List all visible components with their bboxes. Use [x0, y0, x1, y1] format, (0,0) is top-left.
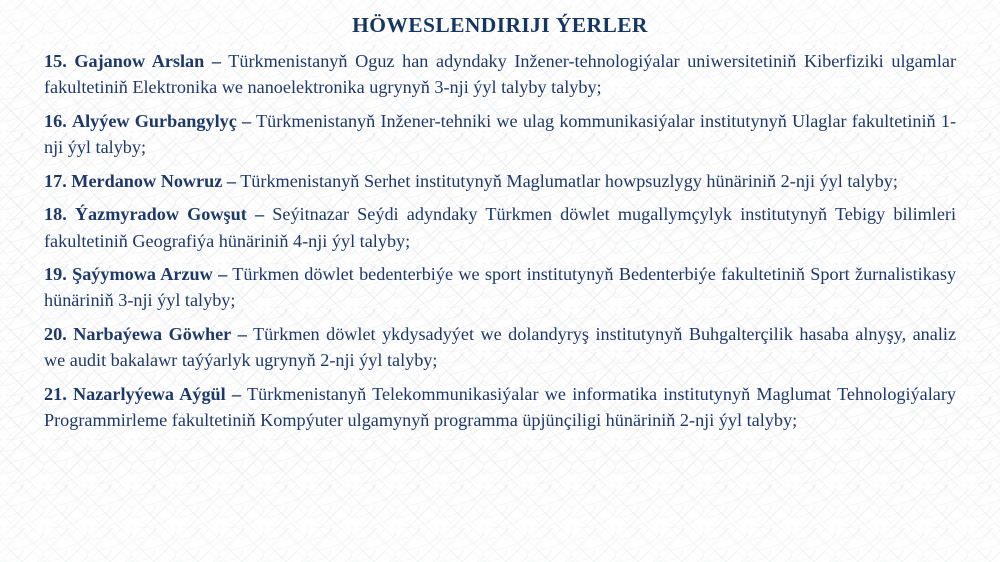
entry-dash: – — [212, 51, 221, 71]
entry-dash: – — [255, 204, 264, 224]
entry-dash: – — [238, 324, 247, 344]
entry-number: 17. — [44, 171, 67, 191]
entry-dash: – — [242, 111, 251, 131]
list-item: 16. Alyýew Gurbangylyç – Türkmenistanyň … — [44, 108, 956, 160]
document-content: HÖWESLENDIRIJI ÝERLER 15. Gajanow Arslan… — [0, 0, 1000, 433]
list-item: 18. Ýazmyradow Gowşut – Seýitnazar Seýdi… — [44, 201, 956, 253]
entry-number: 19. — [44, 264, 67, 284]
entry-name: Şaýymowa Arzuw — [72, 264, 213, 284]
page-title: HÖWESLENDIRIJI ÝERLER — [44, 13, 956, 39]
entry-name: Alyýew Gurbangylyç — [72, 111, 237, 131]
slide-canvas: HÖWESLENDIRIJI ÝERLER 15. Gajanow Arslan… — [0, 0, 1000, 562]
entry-number: 21. — [44, 384, 67, 404]
entry-dash: – — [232, 384, 241, 404]
entry-number: 15. — [44, 51, 67, 71]
entry-dash: – — [218, 264, 227, 284]
entry-number: 20. — [44, 324, 67, 344]
entry-name: Ýazmyradow Gowşut — [75, 204, 247, 224]
list-item: 19. Şaýymowa Arzuw – Türkmen döwlet bede… — [44, 261, 956, 313]
entry-name: Narbaýewa Göwher — [73, 324, 231, 344]
entry-number: 16. — [44, 111, 67, 131]
list-item: 17. Merdanow Nowruz – Türkmenistanyň Ser… — [44, 168, 956, 194]
entry-name: Gajanow Arslan — [74, 51, 204, 71]
entry-number: 18. — [44, 204, 67, 224]
entry-name: Merdanow Nowruz — [71, 171, 222, 191]
entry-description: Türkmenistanyň Serhet institutynyň Maglu… — [240, 171, 898, 191]
list-item: 20. Narbaýewa Göwher – Türkmen döwlet yk… — [44, 321, 956, 373]
list-item: 21. Nazarlyýewa Aýgül – Türkmenistanyň T… — [44, 381, 956, 433]
entry-dash: – — [227, 171, 236, 191]
list-item: 15. Gajanow Arslan – Türkmenistanyň Oguz… — [44, 48, 956, 100]
entry-name: Nazarlyýewa Aýgül — [73, 384, 226, 404]
